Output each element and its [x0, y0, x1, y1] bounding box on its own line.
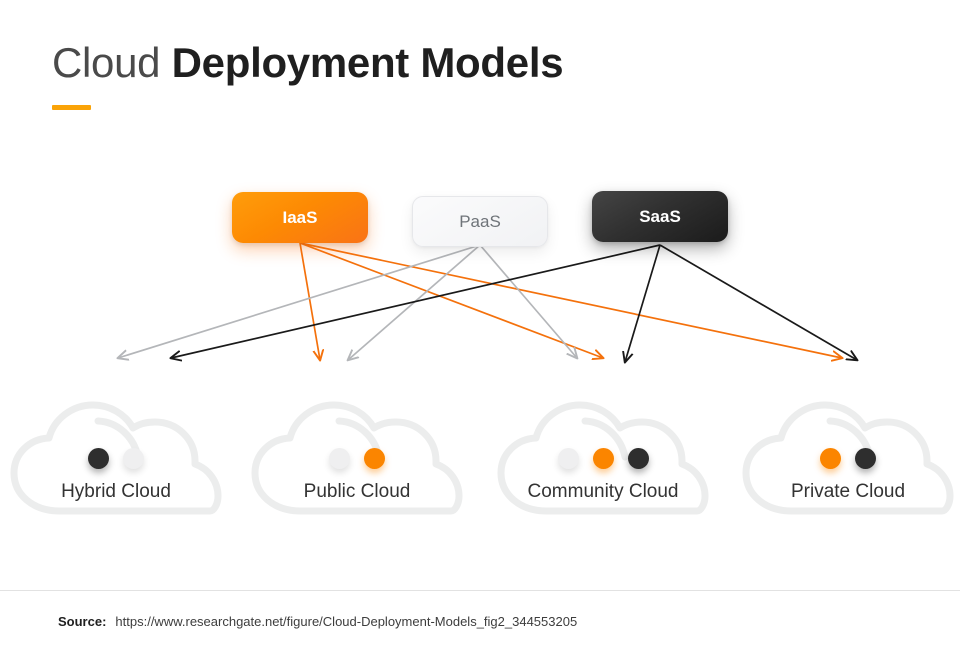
connection-iaas-to-private — [300, 243, 842, 358]
service-model-saas[interactable]: SaaS — [592, 191, 728, 242]
connection-saas-to-community — [625, 245, 660, 362]
deployment-model-community[interactable]: Community Cloud — [489, 385, 717, 525]
connection-paas-to-hybrid — [118, 245, 480, 358]
connection-iaas-to-community — [300, 243, 603, 358]
cloud-dots-public — [243, 448, 471, 469]
source-url: https://www.researchgate.net/figure/Clou… — [115, 614, 577, 629]
deployment-model-public-label: Public Cloud — [243, 481, 471, 503]
cloud-dot-light — [329, 448, 350, 469]
deployment-model-private[interactable]: Private Cloud — [734, 385, 960, 525]
cloud-deployment-diagram: IaaS PaaS SaaS Hybrid Cloud Public Cloud… — [0, 0, 960, 655]
cloud-dot-dark — [88, 448, 109, 469]
service-model-paas-label: PaaS — [459, 212, 501, 232]
cloud-dot-dark — [628, 448, 649, 469]
cloud-dot-light — [558, 448, 579, 469]
connection-saas-to-private — [660, 245, 857, 360]
service-model-iaas[interactable]: IaaS — [232, 192, 368, 243]
deployment-model-hybrid[interactable]: Hybrid Cloud — [2, 385, 230, 525]
cloud-dots-hybrid — [2, 448, 230, 469]
deployment-model-public[interactable]: Public Cloud — [243, 385, 471, 525]
cloud-dot-light — [123, 448, 144, 469]
cloud-dots-private — [734, 448, 960, 469]
deployment-model-private-label: Private Cloud — [734, 481, 960, 503]
source-footer: Source: https://www.researchgate.net/fig… — [58, 614, 577, 629]
connection-paas-to-public — [348, 245, 480, 360]
connection-paas-to-community — [480, 245, 577, 358]
cloud-dot-orange — [820, 448, 841, 469]
cloud-dot-dark — [855, 448, 876, 469]
connection-iaas-to-public — [300, 243, 320, 360]
cloud-dots-community — [489, 448, 717, 469]
deployment-model-hybrid-label: Hybrid Cloud — [2, 481, 230, 503]
footer-divider — [0, 590, 960, 591]
cloud-dot-orange — [593, 448, 614, 469]
cloud-dot-orange — [364, 448, 385, 469]
connection-saas-to-hybrid — [171, 245, 660, 358]
connection-arrow-layer — [0, 0, 960, 655]
service-model-iaas-label: IaaS — [283, 208, 318, 228]
service-model-saas-label: SaaS — [639, 207, 681, 227]
service-model-paas[interactable]: PaaS — [412, 196, 548, 247]
deployment-model-community-label: Community Cloud — [489, 481, 717, 503]
source-label: Source: — [58, 614, 106, 629]
